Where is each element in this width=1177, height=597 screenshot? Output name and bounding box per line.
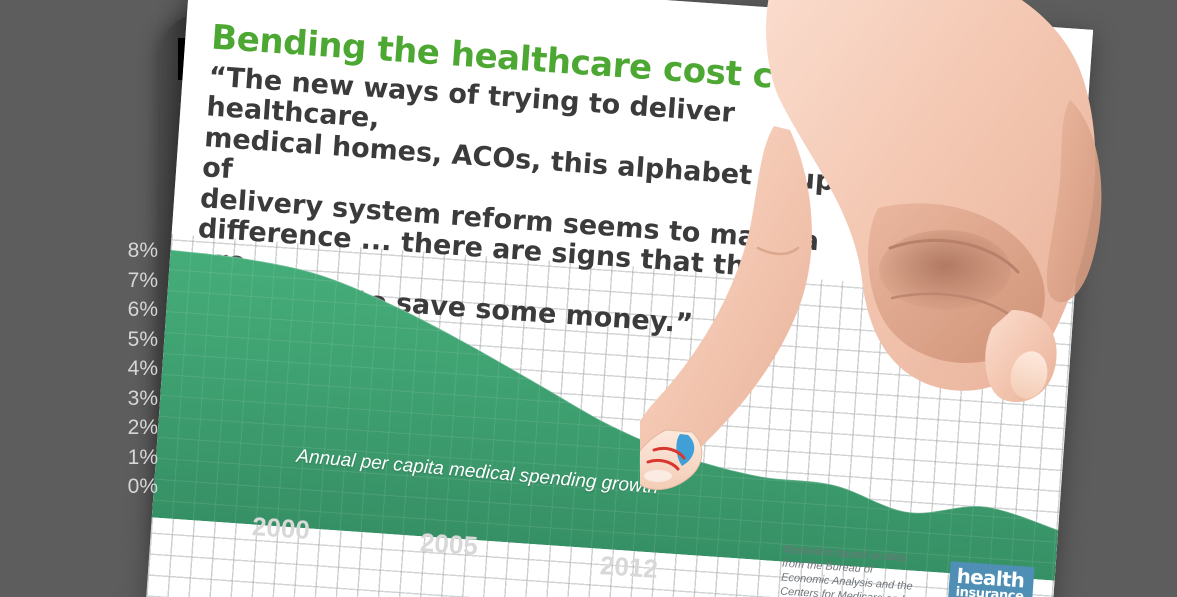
y-tick-3: 3% <box>96 384 158 414</box>
index-finger <box>640 126 812 473</box>
source-note: Illustration based on data from the Bure… <box>779 543 924 597</box>
y-tick-7: 7% <box>96 266 158 296</box>
y-tick-8: 8% <box>96 236 158 266</box>
healthinsurance-org-logo[interactable]: health insurance .org™ <box>946 561 1034 597</box>
x-tick-2005: 2005 <box>419 527 479 562</box>
x-tick-2000: 2000 <box>251 511 311 546</box>
y-tick-0: 0% <box>96 472 158 502</box>
y-tick-6: 6% <box>96 295 158 325</box>
y-tick-2: 2% <box>96 413 158 443</box>
pointing-hand-icon <box>640 0 1110 540</box>
infographic-canvas: Bending the healthcare cost curve? “The … <box>0 0 1177 597</box>
y-tick-5: 5% <box>96 325 158 355</box>
x-tick-2012: 2012 <box>599 550 659 585</box>
y-axis: 8% 7% 6% 5% 4% 3% 2% 1% 0% <box>96 236 158 502</box>
y-tick-4: 4% <box>96 354 158 384</box>
y-tick-1: 1% <box>96 443 158 473</box>
nail-highlight <box>644 470 672 482</box>
open-quote-mark: “ <box>208 61 228 93</box>
